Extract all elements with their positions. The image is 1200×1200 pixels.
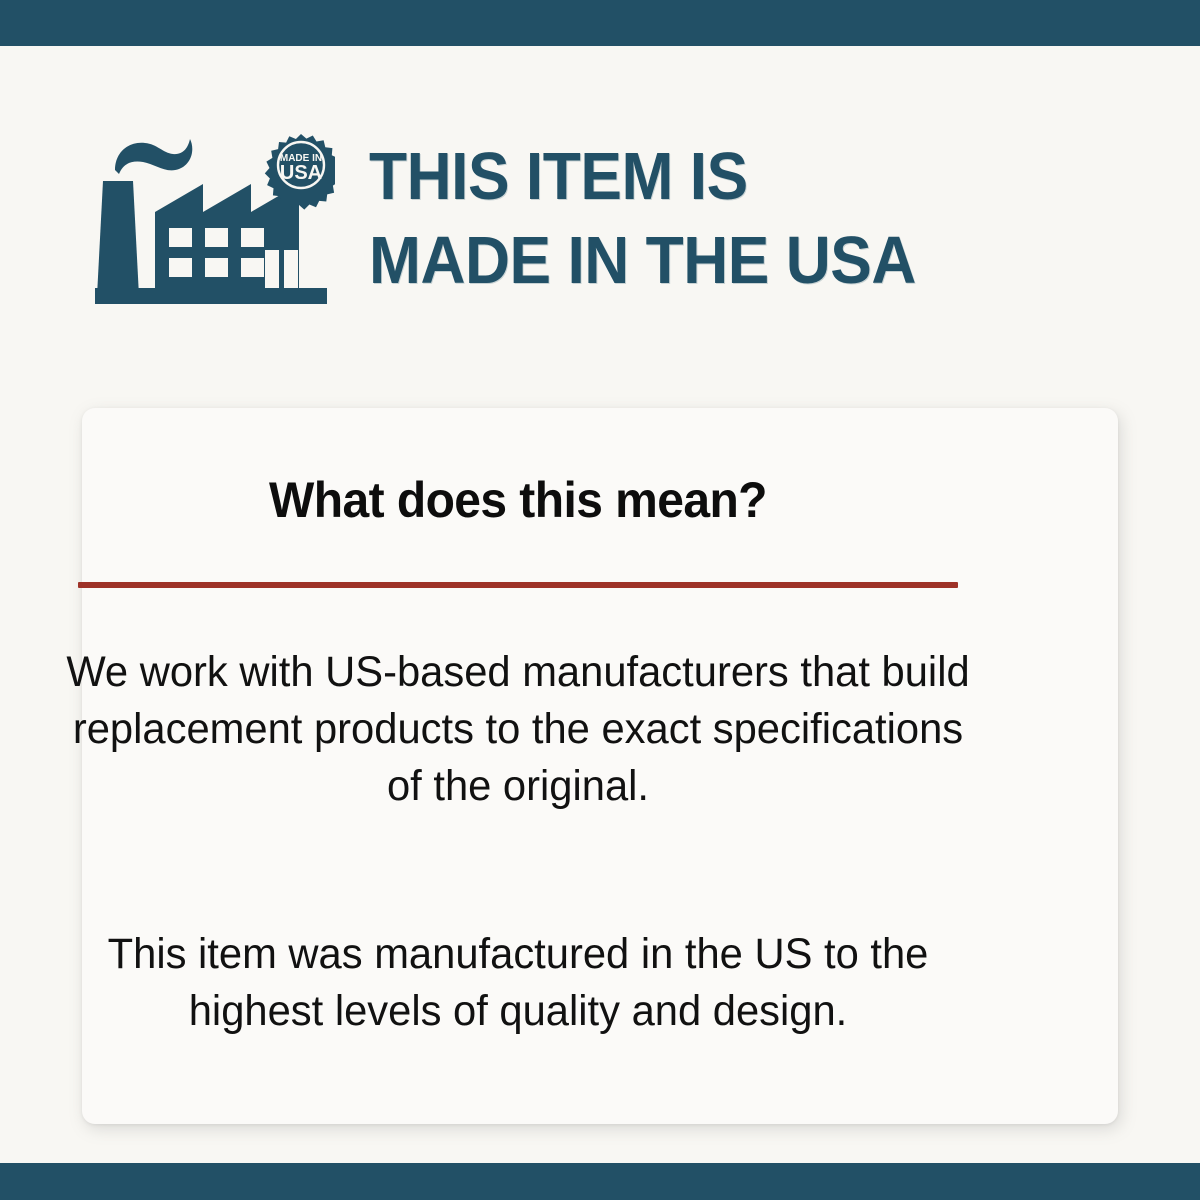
card-paragraph-2: This item was manufactured in the US to … (54, 926, 981, 1040)
card-paragraph-1: We work with US-based manufacturers that… (54, 644, 981, 815)
page-title-line-2: MADE IN THE USA (369, 219, 916, 303)
page-title: THIS ITEM IS MADE IN THE USA (369, 135, 916, 303)
header: MADE IN USA THIS ITEM IS MADE IN THE USA (95, 101, 1155, 336)
factory-logo: MADE IN USA (95, 124, 335, 314)
card-divider (78, 582, 958, 588)
top-accent-bar (0, 0, 1200, 46)
page-title-line-1: THIS ITEM IS (369, 135, 916, 219)
factory-with-made-in-usa-badge-icon: MADE IN USA (95, 124, 335, 314)
bottom-accent-bar (0, 1163, 1200, 1200)
badge-line-2: USA (280, 162, 322, 184)
page-canvas: MADE IN USA THIS ITEM IS MADE IN THE USA… (0, 46, 1200, 1163)
card-heading: What does this mean? (21, 471, 1016, 529)
